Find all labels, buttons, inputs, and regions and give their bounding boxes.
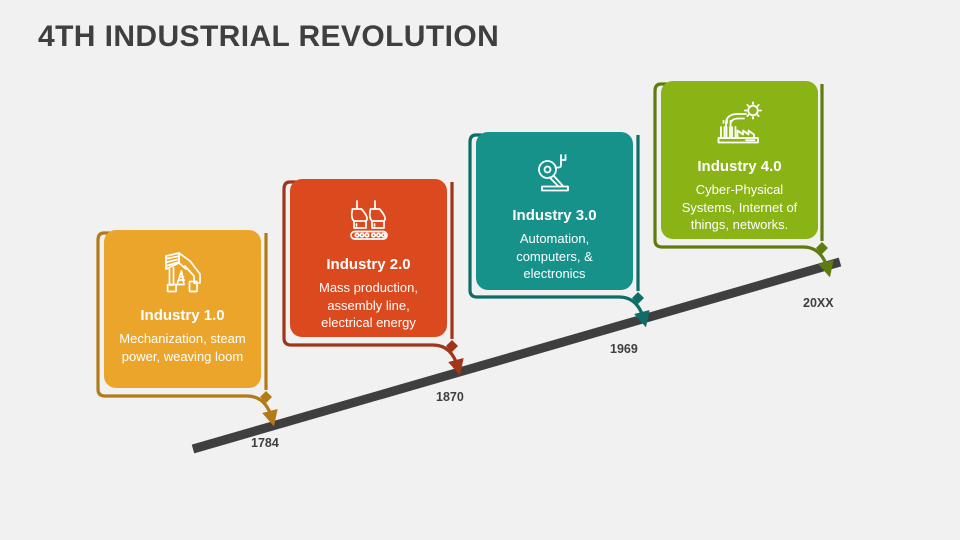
card-title: Industry 3.0 [512, 207, 596, 224]
card-description: Cyber-Physical Systems, Internet of thin… [673, 181, 806, 234]
card-description: Mass production, assembly line, electric… [302, 279, 435, 332]
robotic-arm-icon [531, 152, 579, 201]
year-label-1969: 1969 [610, 342, 638, 356]
year-label-1784: 1784 [251, 436, 279, 450]
card-title: Industry 4.0 [697, 158, 781, 175]
year-label-1870: 1870 [436, 390, 464, 404]
card-industry-3[interactable]: Industry 3.0 Automation, computers, & el… [476, 132, 633, 290]
card-description: Mechanization, steam power, weaving loom [116, 330, 249, 365]
year-label-20xx: 20XX [803, 296, 834, 310]
assembly-line-icon [344, 199, 394, 250]
weaving-loom-icon [159, 250, 207, 301]
card-industry-1[interactable]: Industry 1.0 Mechanization, steam power,… [104, 230, 261, 388]
card-industry-4[interactable]: Industry 4.0 Cyber-Physical Systems, Int… [661, 81, 818, 239]
slide-canvas: 4TH INDUSTRIAL REVOLUTION [0, 0, 960, 540]
card-industry-2[interactable]: Industry 2.0 Mass production, assembly l… [290, 179, 447, 337]
smart-factory-icon [713, 101, 767, 152]
card-title: Industry 2.0 [326, 256, 410, 273]
card-title: Industry 1.0 [140, 307, 224, 324]
card-description: Automation, computers, & electronics [488, 230, 621, 283]
